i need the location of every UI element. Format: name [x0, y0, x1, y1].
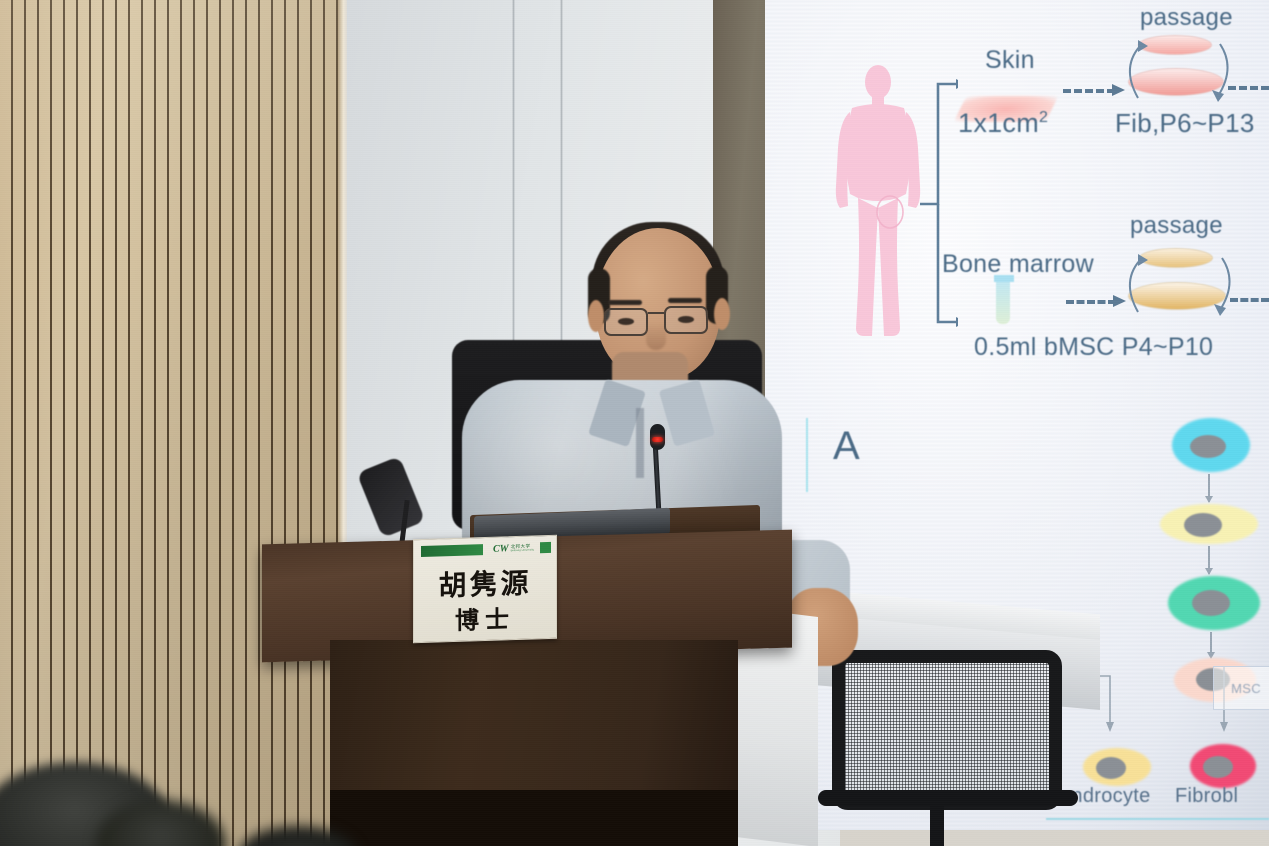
slide-marrow-tube-icon [996, 278, 1010, 324]
office-chair-frame [832, 650, 1062, 810]
slide-passage-cycle-arrow-bottom [1112, 238, 1236, 316]
microphone-led-indicator [652, 437, 663, 442]
slide-skin-label: Skin [985, 46, 1035, 75]
name-card-green-square [540, 542, 551, 553]
speaker-title-text: 博士 [414, 598, 556, 637]
slide-nucleus [1203, 756, 1233, 778]
speaker-ear-left [588, 300, 604, 332]
slide-msc-box: MSC [1213, 666, 1269, 710]
slide-skin-size-sup: 2 [1039, 109, 1048, 126]
slide-nucleus [1190, 435, 1226, 458]
office-chair-armrest [818, 790, 1078, 806]
slide-arrow-right-top [1228, 86, 1269, 90]
slide-vertical-divider [806, 418, 808, 492]
slide-bone-marrow-label: Bone marrow [942, 250, 1094, 279]
slide-skin-size-value: 1x1cm [958, 108, 1039, 138]
slide-panel-label-a: A [833, 424, 860, 469]
eyeglass-bridge-icon [648, 312, 664, 314]
slide-nucleus [1184, 513, 1222, 537]
wood-wall-shading [0, 0, 345, 846]
office-chair-post [930, 800, 944, 846]
slide-arrow-skin-to-dish [1063, 89, 1115, 93]
slide-cell-arrow [1210, 632, 1212, 658]
slide-arrow-right-bottom [1230, 298, 1269, 302]
slide-msc-label: MSC [1231, 681, 1261, 696]
slide-nucleus [1192, 590, 1230, 616]
human-body-silhouette [832, 62, 924, 340]
slide-nucleus [1096, 757, 1126, 779]
speaker-eye-left [618, 318, 634, 325]
university-logo-mark: CW [493, 544, 509, 554]
slide-cell-arrow [1208, 474, 1210, 502]
speaker-shirt-placket [636, 408, 644, 478]
university-logo-text: 北邦大学 Beibang University [511, 544, 534, 552]
slide-branch-bracket [918, 78, 958, 328]
slide-skin-size-label: 1x1cm2 [958, 108, 1048, 139]
speaker-name-card: CW 北邦大学 Beibang University 胡隽源 博士 [413, 535, 557, 644]
university-logo-english: Beibang University [511, 549, 534, 552]
slide-cell-arrow [1208, 546, 1210, 574]
university-logo: CW 北邦大学 Beibang University [493, 541, 537, 555]
lectern-base [330, 790, 738, 846]
slide-passage-label-bottom: passage [1130, 212, 1223, 240]
slide-arrow-marrow-to-dish [1066, 300, 1116, 304]
slide-bottom-rule [1046, 818, 1269, 820]
slide-fib-passage-label: Fib,P6~P13 [1115, 108, 1255, 139]
speaker-eye-right [678, 316, 694, 323]
slide-fibroblast-label: Fibrobl [1175, 785, 1238, 808]
speaker-nose [646, 322, 666, 350]
slide-bmsc-label: 0.5ml bMSC P4~P10 [974, 333, 1213, 362]
speaker-eyebrow-left [608, 300, 642, 305]
name-card-green-band [421, 544, 483, 557]
speaker-ear-right [714, 298, 730, 330]
slide-passage-cycle-arrow-top [1112, 26, 1234, 102]
slide-marrow-tube-cap-icon [994, 275, 1014, 282]
speaker-eyebrow-right [668, 298, 702, 303]
conference-photo-scene: Skin 1x1cm2 passage Fib,P6~P13 Bone marr… [0, 0, 1269, 846]
